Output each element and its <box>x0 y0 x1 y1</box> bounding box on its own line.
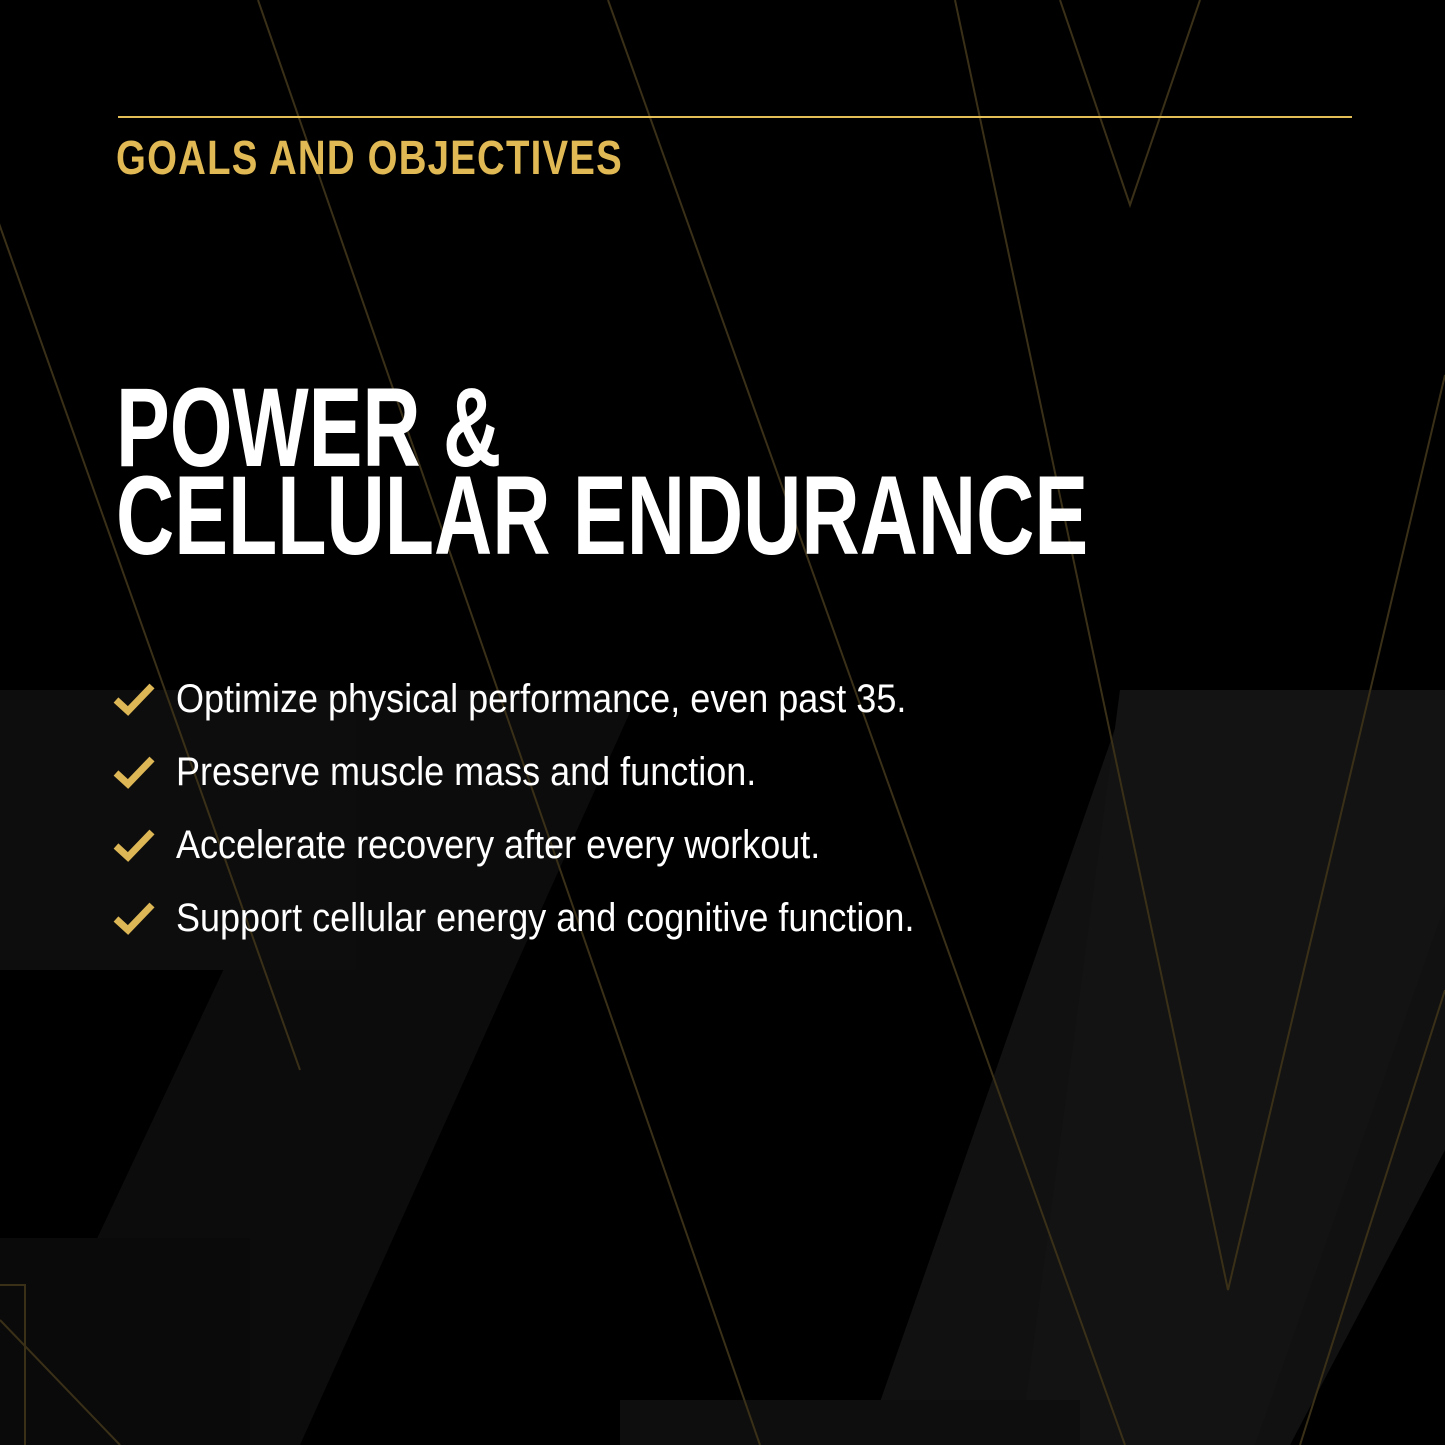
check-icon <box>112 900 158 936</box>
list-item-label: Support cellular energy and cognitive fu… <box>176 898 914 938</box>
bg-panel-bottom-mid <box>620 1400 1080 1445</box>
page-title: POWER & CELLULAR ENDURANCE <box>116 384 1088 560</box>
list-item: Accelerate recovery after every workout. <box>112 808 1212 881</box>
list-item-label: Accelerate recovery after every workout. <box>176 825 820 865</box>
list-item-label: Preserve muscle mass and function. <box>176 752 756 792</box>
list-item-label: Optimize physical performance, even past… <box>176 679 906 719</box>
list-item: Support cellular energy and cognitive fu… <box>112 881 1212 954</box>
gold-divider-rule <box>118 116 1352 118</box>
list-item: Preserve muscle mass and function. <box>112 735 1212 808</box>
check-icon <box>112 827 158 863</box>
bg-line-chevron-large <box>955 0 1445 1290</box>
list-item: Optimize physical performance, even past… <box>112 662 1212 735</box>
check-icon <box>112 754 158 790</box>
bg-panel-bottom-left-block <box>0 1238 250 1445</box>
eyebrow-label: GOALS AND OBJECTIVES <box>116 135 623 183</box>
bg-line-bottom-left <box>0 1320 120 1445</box>
bg-line-chevron-large-2 <box>1300 990 1445 1445</box>
page-title-line-2: CELLULAR ENDURANCE <box>116 472 1088 560</box>
goals-and-objectives-slide: GOALS AND OBJECTIVES POWER & CELLULAR EN… <box>0 0 1445 1445</box>
objectives-checklist: Optimize physical performance, even past… <box>112 662 1212 954</box>
check-icon <box>112 681 158 717</box>
bg-line-chevron-upper <box>1060 0 1200 205</box>
